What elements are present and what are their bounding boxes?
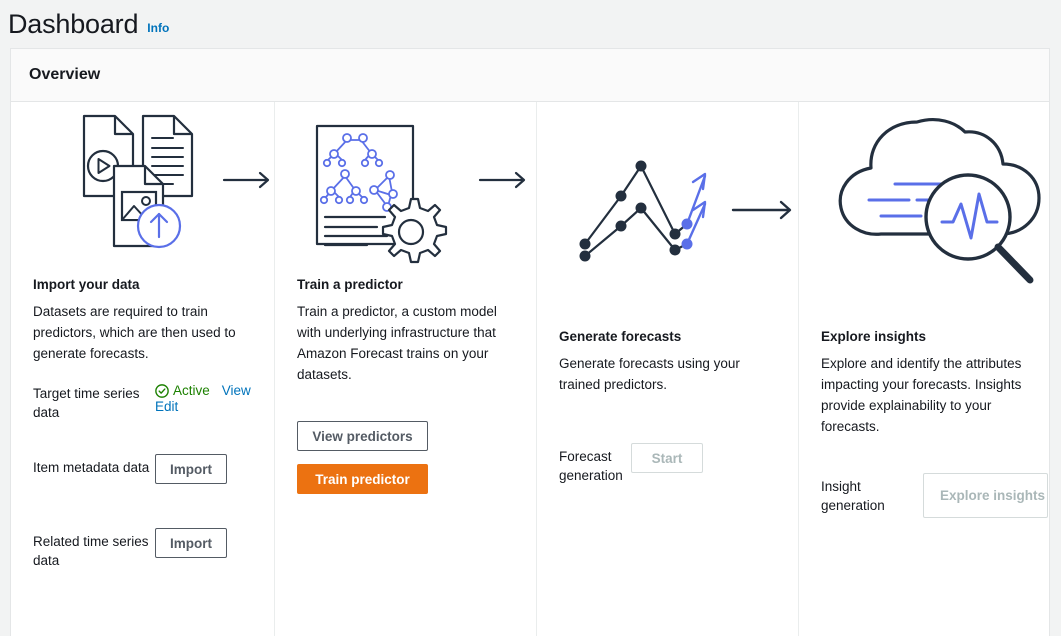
import-related-time-series-button[interactable]: Import <box>155 528 227 558</box>
explore-insights-button[interactable]: Explore insights <box>923 473 1048 518</box>
row-label: Forecast generation <box>559 443 623 485</box>
column-title: Import your data <box>33 277 252 292</box>
row-item-metadata: Item metadata data Import <box>33 454 252 506</box>
column-title: Explore insights <box>821 329 1027 344</box>
row-label: Item metadata data <box>33 454 155 477</box>
column-title: Train a predictor <box>297 277 514 292</box>
column-train-a-predictor: Train a predictor Train a predictor, a c… <box>274 102 536 636</box>
view-predictors-button[interactable]: View predictors <box>297 421 428 451</box>
row-label: Related time series data <box>33 528 155 570</box>
edit-link[interactable]: Edit <box>155 399 178 414</box>
page-title: Dashboard <box>8 9 138 40</box>
overview-title: Overview <box>29 66 100 84</box>
column-description: Generate forecasts using your trained pr… <box>559 353 776 395</box>
row-action: Import <box>155 528 252 558</box>
check-circle-icon <box>155 384 169 398</box>
row-forecast-generation: Forecast generation Start <box>559 443 776 495</box>
overview-columns: Import your data Datasets are required t… <box>11 102 1049 636</box>
import-item-metadata-button[interactable]: Import <box>155 454 227 484</box>
column-description: Datasets are required to train predictor… <box>33 301 252 364</box>
column-explore-insights: Explore insights Explore and identify th… <box>798 102 1049 636</box>
row-insight-generation: Insight generation Explore insights <box>821 473 1027 525</box>
dashboard-page: Dashboard Info Overview <box>0 0 1061 636</box>
row-target-time-series: Target time series data Active <box>33 380 252 432</box>
import-rows: Target time series data Active <box>33 380 252 580</box>
status-badge: Active <box>155 383 210 398</box>
column-title: Generate forecasts <box>559 329 776 344</box>
view-link[interactable]: View <box>222 383 251 398</box>
row-label: Insight generation <box>821 473 885 515</box>
forecast-rows: Forecast generation Start <box>559 443 776 495</box>
column-generate-forecasts: Generate forecasts Generate forecasts us… <box>536 102 798 636</box>
insights-rows: Insight generation Explore insights <box>821 473 1027 525</box>
train-predictor-button[interactable]: Train predictor <box>297 464 428 494</box>
column-description: Train a predictor, a custom model with u… <box>297 301 514 385</box>
page-header: Dashboard Info <box>0 0 1061 48</box>
row-action: Active View Edit <box>155 380 252 414</box>
cloud-magnifier-illustration <box>821 102 1027 277</box>
row-related-time-series: Related time series data Import <box>33 528 252 580</box>
overview-card: Overview <box>10 48 1050 636</box>
row-action: Import <box>155 454 252 484</box>
train-buttons: View predictors Train predictor <box>297 421 514 494</box>
model-gear-illustration <box>297 102 514 277</box>
row-action: Start <box>623 443 776 473</box>
overview-card-header: Overview <box>11 49 1049 102</box>
forecast-lines-illustration <box>559 102 776 277</box>
row-action: Explore insights <box>885 473 1048 518</box>
documents-upload-illustration <box>33 102 252 277</box>
start-forecast-generation-button[interactable]: Start <box>631 443 703 473</box>
status-label: Active <box>173 383 210 398</box>
column-import-your-data: Import your data Datasets are required t… <box>11 102 274 636</box>
row-label: Target time series data <box>33 380 155 422</box>
column-description: Explore and identify the attributes impa… <box>821 353 1027 437</box>
info-link[interactable]: Info <box>147 21 169 35</box>
